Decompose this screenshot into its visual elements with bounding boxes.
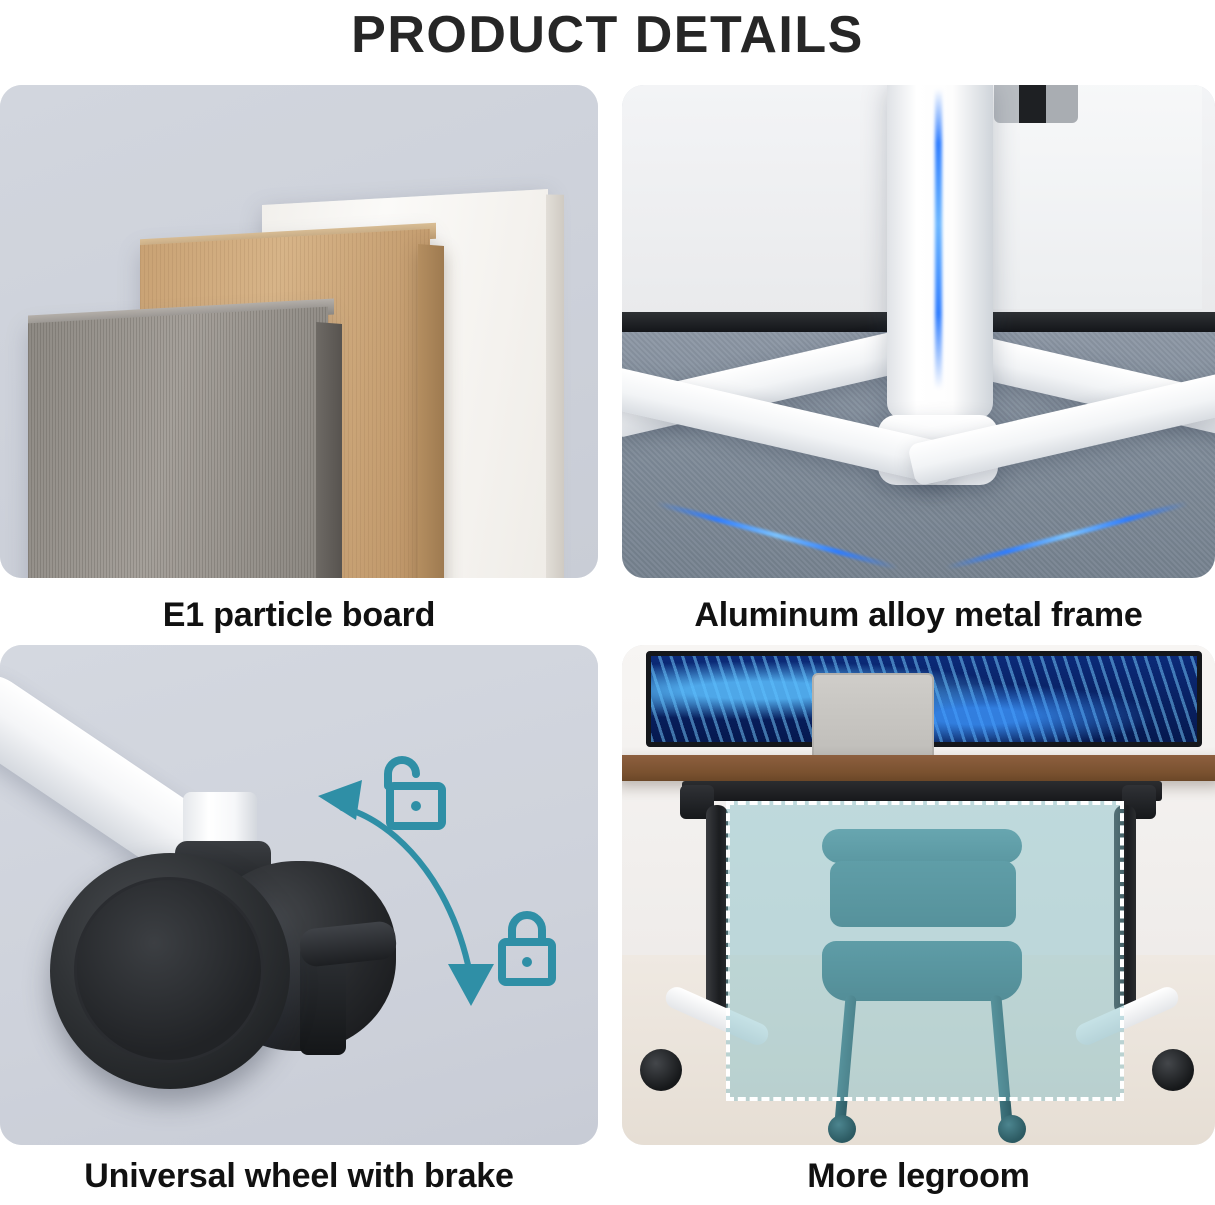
page-title: PRODUCT DETAILS — [0, 0, 1215, 78]
aluminum-frame-image — [622, 85, 1215, 578]
desk-apron — [682, 781, 1162, 801]
feature-card-aluminum-frame: Aluminum alloy metal frame — [622, 85, 1215, 645]
laptop — [812, 673, 934, 761]
feature-card-more-legroom: More legroom — [622, 645, 1215, 1205]
feature-caption-aluminum-frame: Aluminum alloy metal frame — [622, 592, 1215, 638]
legroom-highlight-zone — [726, 801, 1124, 1101]
particle-board-image — [0, 85, 598, 578]
feature-grid: E1 particle board Aluminum alloy metal f… — [0, 85, 1215, 1205]
desk-caster-right — [1152, 1049, 1194, 1091]
glow-accent-column — [935, 89, 942, 389]
wheel-hub — [74, 877, 264, 1063]
feature-caption-universal-wheel: Universal wheel with brake — [0, 1153, 598, 1199]
desk-leg-left — [706, 805, 728, 1015]
feature-caption-particle-board: E1 particle board — [0, 592, 598, 638]
board-gray — [28, 307, 328, 578]
more-legroom-image — [622, 645, 1215, 1145]
chair-caster-left — [828, 1115, 856, 1143]
mounting-bracket — [994, 85, 1078, 123]
desk-caster-left — [640, 1049, 682, 1091]
board-oak-side-edge — [418, 244, 444, 578]
desk-tabletop — [622, 755, 1215, 781]
curved-double-arrow-icon — [318, 778, 528, 1008]
feature-card-particle-board: E1 particle board — [0, 85, 598, 645]
feature-caption-more-legroom: More legroom — [622, 1153, 1215, 1199]
chair-caster-right — [998, 1115, 1026, 1143]
board-gray-side-edge — [316, 322, 342, 578]
